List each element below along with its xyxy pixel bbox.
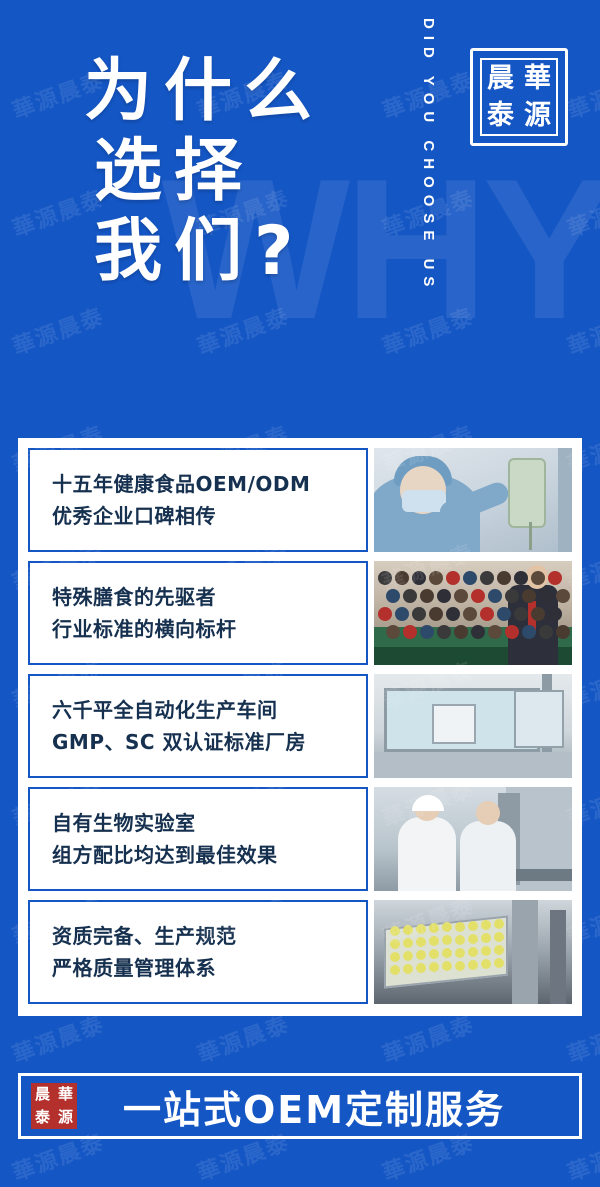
feature-photo-lab-workers-production-line [374,787,572,891]
audience-head [514,607,528,621]
vertical-subtitle: DID YOU CHOOSE US [420,18,437,388]
audience-head [488,589,502,603]
audience-head [454,589,468,603]
feature-line: 十五年健康食品OEM/ODM [52,468,366,500]
tablet-dot [468,960,478,970]
feature-line: 自有生物实验室 [52,807,366,839]
audience-head [395,571,409,585]
audience-head [480,571,494,585]
audience-head [480,607,494,621]
tablet-dot [468,921,478,931]
feature-line: GMP、SC 双认证标准厂房 [52,726,366,758]
audience-head [386,625,400,639]
audience-head [429,571,443,585]
audience-head [556,589,570,603]
footer-stamp-char-3: 泰 [35,1110,50,1125]
audience-head [488,625,502,639]
footer-stamp-char-2: 華 [58,1087,73,1102]
audience-head [531,571,545,585]
tablet-dot [481,920,491,930]
audience-head [539,625,553,639]
tablet-dot [468,947,478,957]
audience-head [403,589,417,603]
audience-head [531,607,545,621]
feature-photo-tablet-press-machine [374,900,572,1004]
stamp-char-4: 源 [524,102,551,129]
list-item: 资质完备、生产规范 严格质量管理体系 [28,900,572,1004]
audience-head [412,571,426,585]
audience-head [463,607,477,621]
feature-text-1: 十五年健康食品OEM/ODM 优秀企业口碑相传 [28,448,368,552]
tablet-dot [455,948,465,958]
tablet-dot [494,919,504,929]
audience-head [412,607,426,621]
feature-photo-worker-inspecting-iv-bag [374,448,572,552]
list-item: 特殊膳食的先驱者 行业标准的横向标杆 [28,561,572,665]
tablet-dot [481,959,491,969]
feature-photo-conference-audience [374,561,572,665]
feature-text-4: 自有生物实验室 组方配比均达到最佳效果 [28,787,368,891]
audience-head [386,589,400,603]
audience-head [437,589,451,603]
feature-line: 六千平全自动化生产车间 [52,694,366,726]
feature-line: 严格质量管理体系 [52,952,366,984]
audience-head [539,589,553,603]
audience-head [471,589,485,603]
feature-text-2: 特殊膳食的先驱者 行业标准的横向标杆 [28,561,368,665]
feature-line: 优秀企业口碑相传 [52,500,366,532]
title-line-2: 选择 [94,132,324,212]
list-item: 六千平全自动化生产车间 GMP、SC 双认证标准厂房 [28,674,572,778]
stamp-char-3: 泰 [487,102,514,129]
audience-head [420,589,434,603]
title-line-1: 为什么 [84,52,324,132]
audience-head [429,607,443,621]
audience-head [378,607,392,621]
tablet-dot [390,926,400,936]
footer-stamp-char-4: 源 [58,1110,73,1125]
footer-stamp-char-1: 晨 [35,1087,50,1102]
footer-slogan: 一站式OEM定制服务 [77,1079,579,1134]
audience-head [420,625,434,639]
title-line-3: 我们? [94,212,324,292]
tablet-dot [455,935,465,945]
audience-head [471,625,485,639]
audience-head [522,589,536,603]
tablet-dot [390,965,400,975]
list-item: 自有生物实验室 组方配比均达到最佳效果 [28,787,572,891]
feature-line: 特殊膳食的先驱者 [52,581,366,613]
list-item: 十五年健康食品OEM/ODM 优秀企业口碑相传 [28,448,572,552]
audience-head [446,571,460,585]
audience-head [454,625,468,639]
audience-head [378,571,392,585]
footer-brand-stamp: 晨 華 泰 源 [31,1083,77,1129]
audience-head [497,571,511,585]
tablet-dot [455,922,465,932]
poster-header: 为什么 选择 我们? DID YOU CHOOSE US 晨 華 泰 源 [0,0,600,430]
audience-head [505,589,519,603]
tablet-dot [494,945,504,955]
audience-head [437,625,451,639]
page-title: 为什么 选择 我们? [84,52,324,293]
audience-head [505,625,519,639]
tablet-dot [390,939,400,949]
stamp-char-1: 晨 [487,65,514,92]
tablet-dot [455,961,465,971]
feature-line: 组方配比均达到最佳效果 [52,839,366,871]
tablet-dot [494,958,504,968]
audience-head [497,607,511,621]
stamp-char-2: 華 [524,65,551,92]
feature-text-5: 资质完备、生产规范 严格质量管理体系 [28,900,368,1004]
tablet-dot [468,934,478,944]
audience-head [556,625,570,639]
audience-head [463,571,477,585]
feature-line: 资质完备、生产规范 [52,920,366,952]
feature-text-3: 六千平全自动化生产车间 GMP、SC 双认证标准厂房 [28,674,368,778]
audience-head [548,571,562,585]
feature-line: 行业标准的横向标杆 [52,613,366,645]
audience-head [514,571,528,585]
audience-head [403,625,417,639]
audience-head [522,625,536,639]
tablet-dot [481,933,491,943]
feature-photo-clean-room-corridor [374,674,572,778]
tablet-dot [390,952,400,962]
audience-head [548,607,562,621]
tablet-dot [481,946,491,956]
footer-slogan-bar: 晨 華 泰 源 一站式OEM定制服务 [18,1073,582,1139]
audience-head [446,607,460,621]
audience-head [395,607,409,621]
feature-list-card: 十五年健康食品OEM/ODM 优秀企业口碑相传 特殊膳食的先驱者 行业标准的横向… [18,438,582,1016]
tablet-dot [494,932,504,942]
brand-logo-stamp: 晨 華 泰 源 [470,48,568,146]
